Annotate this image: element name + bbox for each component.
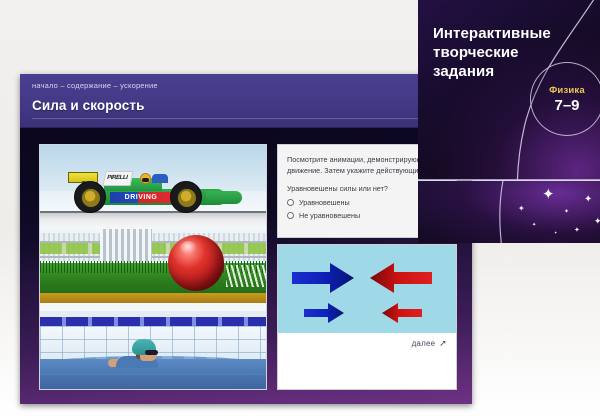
large-blue-right-arrow[interactable] <box>292 263 354 293</box>
stand-green-band <box>40 243 266 254</box>
car-sponsor-text: PIRELLI <box>106 175 127 181</box>
breadcrumb[interactable]: начало – содержание – ускорение <box>32 81 158 90</box>
pool-lane-markers <box>40 317 266 326</box>
star-icon: ✦ <box>532 223 536 228</box>
small-blue-right-arrow[interactable] <box>304 303 344 323</box>
navigation-bar: далее ➚ <box>278 333 456 389</box>
star-icon: ✦ <box>584 195 592 205</box>
stadium-posts <box>100 229 152 263</box>
car-sidepod-text: DRIVING <box>125 194 158 201</box>
race-track-surface <box>40 211 266 229</box>
animation-stack: PIRELLI DRIVING <box>39 144 267 390</box>
radio-option-balanced-label: Уравновешены <box>299 198 350 207</box>
stand-rail-upper <box>40 241 266 243</box>
cover-overlay-panel: Интерактивные творческие задания Физика … <box>418 0 600 180</box>
cover-title-line-2: творческие <box>433 43 563 62</box>
radio-button-icon[interactable] <box>287 212 294 219</box>
star-icon: ✦ <box>564 209 569 215</box>
car-airbox <box>152 174 168 183</box>
motion-streaks <box>226 265 266 287</box>
radio-option-unbalanced-label: Не уравновешены <box>299 211 360 220</box>
force-diagram-stage[interactable] <box>278 245 456 333</box>
car-rear-wheel <box>74 181 106 213</box>
swimmer-head <box>132 339 158 361</box>
ball-panel-footer <box>40 303 266 311</box>
subject-badge: Физика 7–9 <box>530 62 600 136</box>
title-underline <box>32 118 456 119</box>
cover-title-line-1: Интерактивные <box>433 24 563 43</box>
pool-water-deep <box>40 375 266 389</box>
swim-goggles <box>145 350 158 355</box>
lesson-window: начало – содержание – ускорение Сила и с… <box>20 74 472 404</box>
radio-button-icon[interactable] <box>287 199 294 206</box>
star-icon: ✦ <box>542 187 555 202</box>
subject-grades: 7–9 <box>554 97 579 114</box>
star-icon: ✦ <box>574 227 580 234</box>
page-title: Сила и скорость <box>32 98 145 113</box>
subject-name: Физика <box>549 85 585 96</box>
red-ball <box>168 235 224 291</box>
next-button-label: далее <box>412 339 436 348</box>
star-icon: ✦ <box>518 205 525 213</box>
star-icon: ✦ <box>594 217 600 226</box>
star-icon: ✦ <box>554 231 557 235</box>
small-red-left-arrow[interactable] <box>382 303 422 323</box>
force-diagram-card: далее ➚ <box>277 244 457 390</box>
dirt-strip <box>40 293 266 303</box>
car-sponsor-decal: PIRELLI <box>102 171 133 186</box>
stand-rail-lower <box>40 256 266 258</box>
car-nose-cone <box>206 191 242 204</box>
race-car: PIRELLI DRIVING <box>64 169 232 213</box>
cover-lower-curve <box>418 181 600 243</box>
large-red-left-arrow[interactable] <box>370 263 432 293</box>
window-header: начало – содержание – ускорение Сила и с… <box>20 74 472 128</box>
ball-highlight <box>180 241 197 254</box>
car-sidepod-decal: DRIVING <box>110 192 172 203</box>
swimmer-animation[interactable] <box>40 311 266 389</box>
next-button[interactable]: далее ➚ <box>412 339 447 348</box>
right-arrow-icon: ➚ <box>439 339 447 348</box>
cover-overlay-lower-panel: ✦ ✦ ✦ ✦ ✦ ✦ ✦ ✦ <box>418 181 600 243</box>
car-front-wheel <box>170 181 202 213</box>
helmet-visor <box>142 178 149 182</box>
race-car-animation[interactable]: PIRELLI DRIVING <box>40 145 266 229</box>
red-ball-animation[interactable] <box>40 229 266 311</box>
